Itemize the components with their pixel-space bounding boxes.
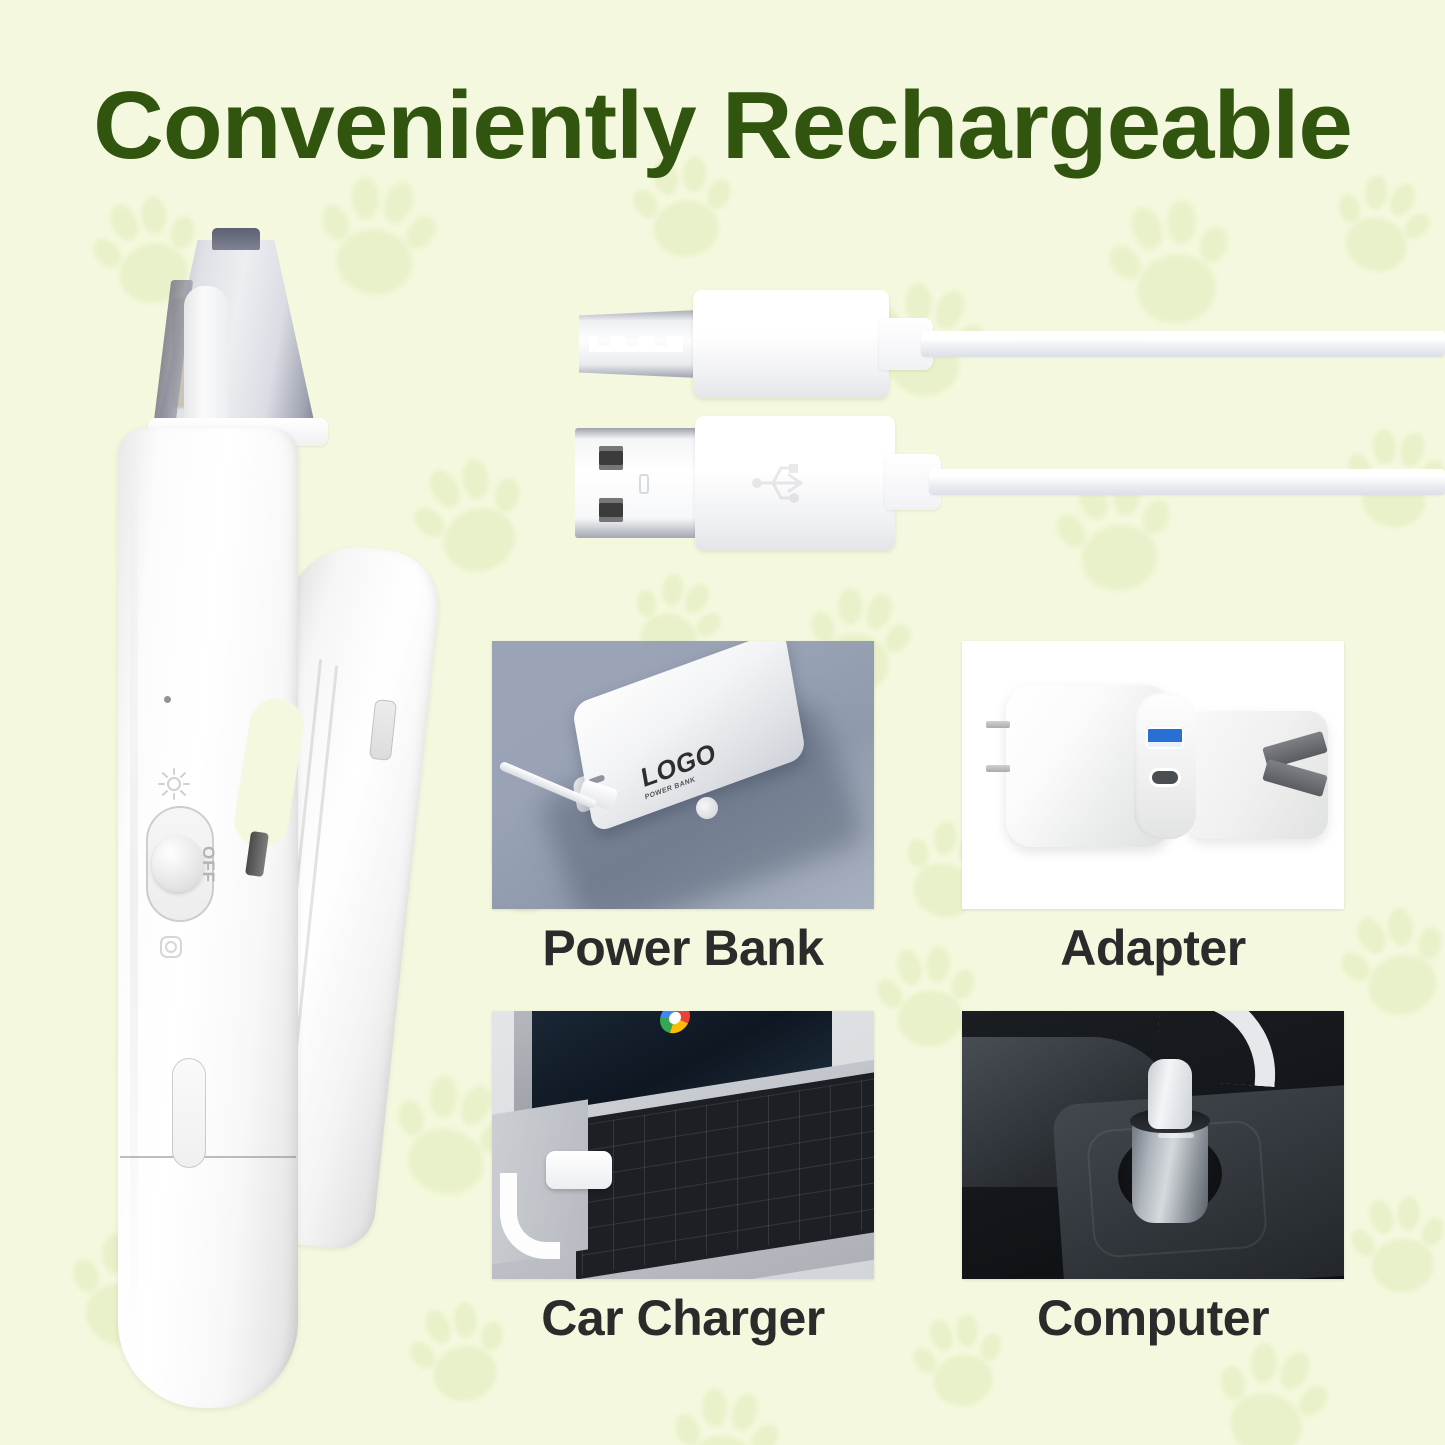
car-charger-photo — [492, 1011, 874, 1279]
paw-print-icon — [1341, 1182, 1445, 1307]
usb-trident-logo — [743, 452, 815, 514]
usb-a-port-icon — [1146, 727, 1184, 749]
charging-option-adapter[interactable]: Adapter — [962, 641, 1344, 973]
caption-power-bank: Power Bank — [492, 923, 874, 973]
power-switch-knob[interactable] — [152, 836, 204, 892]
caption-adapter: Adapter — [962, 923, 1344, 973]
paw-print-icon — [661, 1374, 791, 1445]
nail-grinder-product-image: OFF — [96, 228, 426, 1428]
charging-option-power-bank[interactable]: LOGO POWER BANK Power Bank — [492, 641, 874, 973]
charging-options-grid: LOGO POWER BANK Power Bank — [492, 641, 1344, 1353]
power-icon — [158, 934, 184, 960]
grinder-bottom-slot — [172, 1058, 206, 1168]
switch-off-label: OFF — [198, 846, 218, 883]
usb-a-contact-pad — [599, 498, 623, 522]
micro-usb-shell — [693, 290, 889, 398]
product-infographic: Conveniently Rechargeable — [0, 0, 1445, 1445]
usb-a-alignment-hole — [639, 474, 649, 494]
page-title: Conveniently Rechargeable — [0, 78, 1445, 174]
grinder-tip-cap — [212, 228, 260, 250]
light-icon — [158, 768, 190, 800]
adapter-photo — [962, 641, 1344, 909]
caption-car-charger: Car Charger — [492, 1293, 874, 1343]
caption-computer: Computer — [962, 1293, 1344, 1343]
usb-a-cord — [929, 469, 1445, 495]
usb-a-contact-pad — [599, 446, 623, 470]
charging-option-car-charger[interactable]: Car Charger — [492, 1011, 874, 1343]
usb-c-port-icon — [1152, 771, 1178, 784]
grinder-body-edge — [130, 443, 138, 1343]
paw-print-icon — [1095, 181, 1250, 345]
grinder-inner-post — [184, 286, 228, 431]
computer-photo — [962, 1011, 1344, 1279]
power-bank-photo: LOGO POWER BANK — [492, 641, 874, 909]
grinder-body-seam — [120, 1156, 296, 1158]
micro-usb-cord — [921, 331, 1445, 357]
charging-option-computer[interactable]: Computer — [962, 1011, 1344, 1343]
led-indicator-icon — [164, 696, 171, 703]
grinder-handle-body — [118, 428, 298, 1408]
